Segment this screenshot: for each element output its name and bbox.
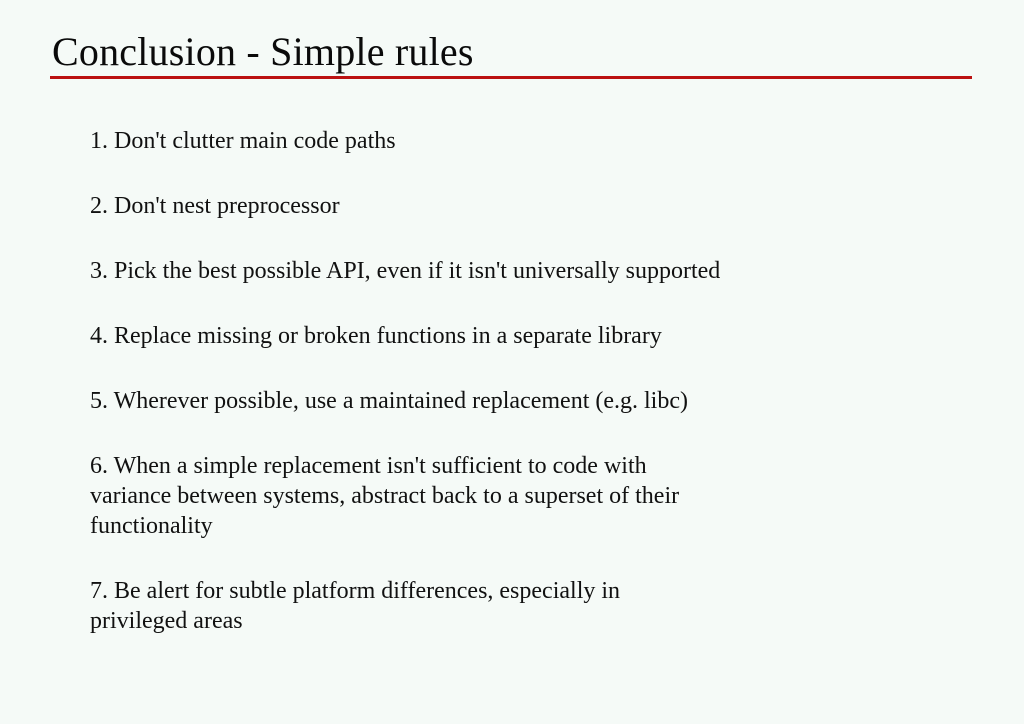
page-title: Conclusion - Simple rules	[52, 28, 474, 76]
list-item: 5. Wherever possible, use a maintained r…	[90, 386, 970, 416]
list-item: 4. Replace missing or broken functions i…	[90, 321, 970, 351]
list-item: 2. Don't nest preprocessor	[90, 191, 970, 221]
list-item: 7. Be alert for subtle platform differen…	[90, 576, 970, 636]
list-item: 6. When a simple replacement isn't suffi…	[90, 451, 970, 541]
title-underline-divider	[50, 76, 972, 79]
list-item: 3. Pick the best possible API, even if i…	[90, 256, 970, 286]
presentation-slide: Conclusion - Simple rules 1. Don't clutt…	[0, 0, 1024, 724]
list-item: 1. Don't clutter main code paths	[90, 126, 970, 156]
rules-list: 1. Don't clutter main code paths 2. Don'…	[90, 126, 970, 636]
